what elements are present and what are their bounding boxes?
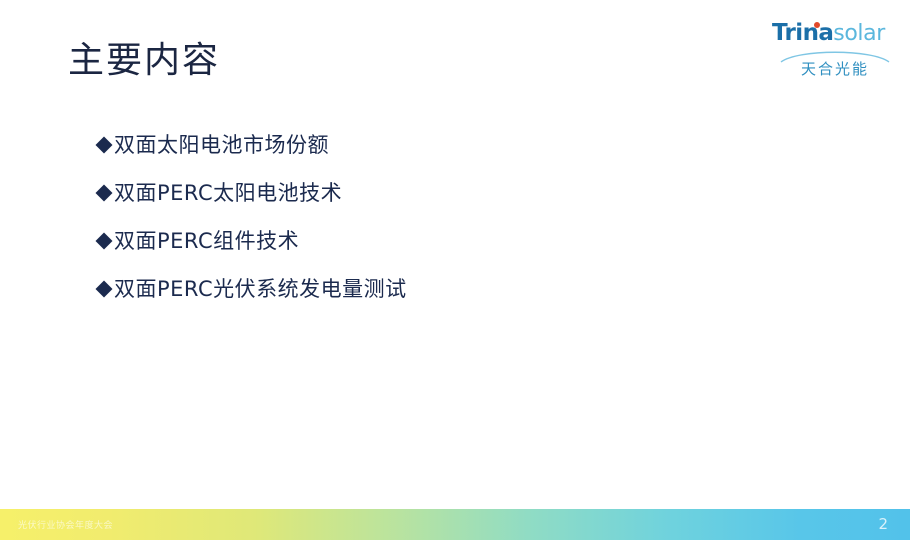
diamond-bullet-icon: [96, 233, 113, 250]
page-title: 主要内容: [68, 38, 220, 84]
logo-text-trina: Trina: [772, 20, 833, 46]
footer-gradient-bar: 光伏行业协会年度大会 2: [0, 509, 910, 540]
logo-chinese-name: 天合光能: [772, 58, 898, 79]
footer-note: 光伏行业协会年度大会: [18, 518, 113, 531]
list-item-label: 双面太阳电池市场份额: [114, 130, 329, 160]
diamond-bullet-icon: [96, 185, 113, 202]
list-item-label: 双面PERC太阳电池技术: [114, 178, 342, 208]
list-item[interactable]: 双面PERC光伏系统发电量测试: [98, 274, 798, 322]
agenda-list: 双面太阳电池市场份额 双面PERC太阳电池技术 双面PERC组件技术 双面PER…: [98, 130, 798, 322]
list-item[interactable]: 双面太阳电池市场份额: [98, 130, 798, 178]
trinasolar-logo: Trinasolar 天合光能: [772, 14, 898, 86]
diamond-bullet-icon: [96, 281, 113, 298]
presentation-slide: Trinasolar 天合光能 主要内容 双面太阳电池市场份额 双面PERC太阳…: [0, 0, 910, 540]
orange-dot-icon: [814, 22, 820, 28]
logo-wordmark: Trinasolar: [772, 20, 898, 46]
page-number: 2: [878, 515, 888, 533]
logo-text-solar: solar: [833, 21, 885, 46]
list-item-label: 双面PERC光伏系统发电量测试: [114, 274, 407, 304]
list-item[interactable]: 双面PERC太阳电池技术: [98, 178, 798, 226]
list-item[interactable]: 双面PERC组件技术: [98, 226, 798, 274]
diamond-bullet-icon: [96, 137, 113, 154]
list-item-label: 双面PERC组件技术: [114, 226, 299, 256]
